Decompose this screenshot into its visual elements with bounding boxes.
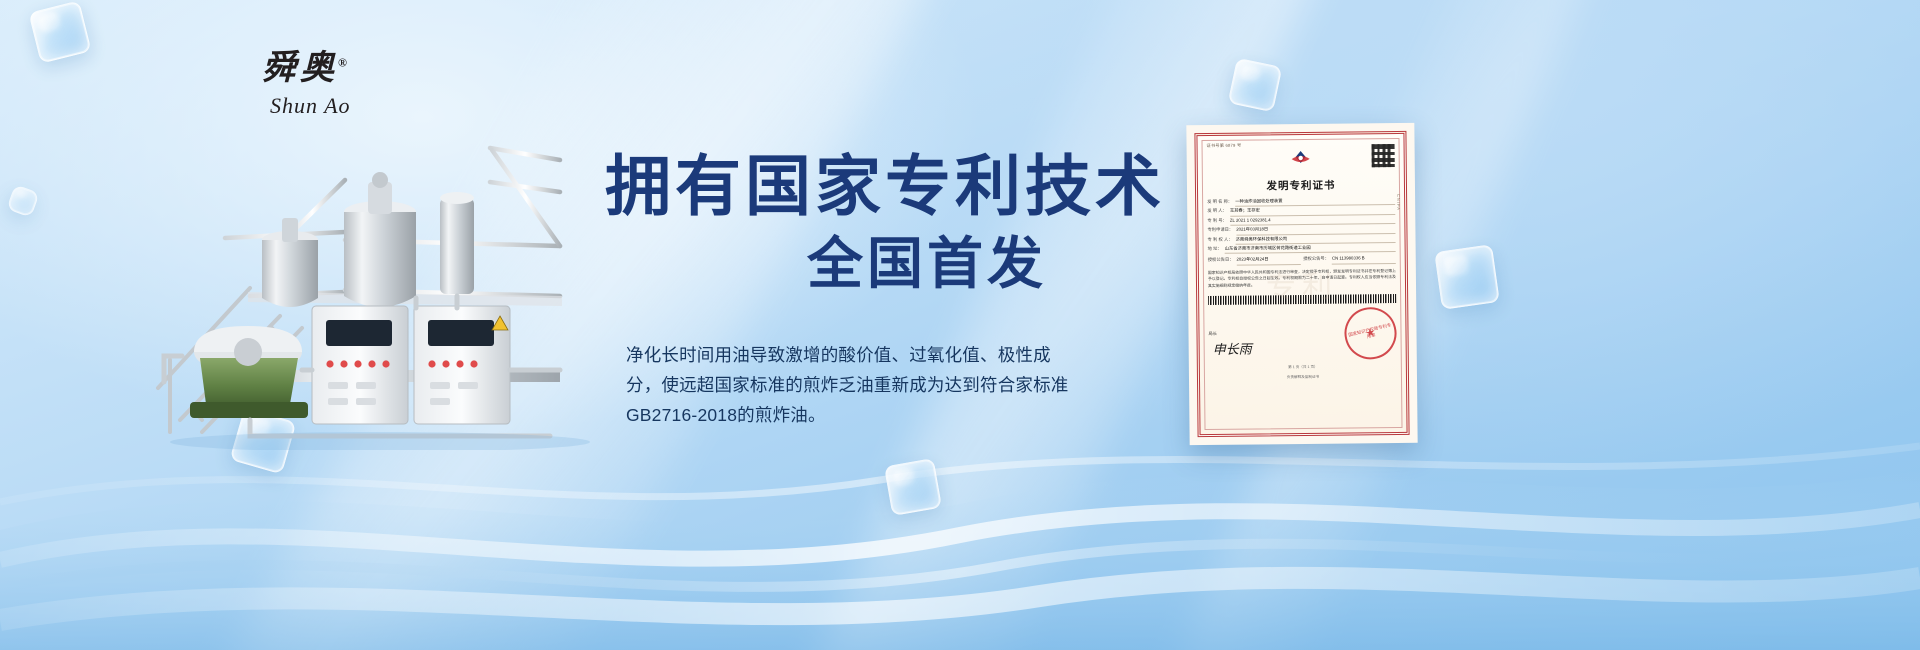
certificate-footer: 第 1 页（共 1 页）	[1209, 364, 1397, 371]
patent-certificate: 专利 CNIPA 证书号第 6879 号 发明专利证书 发 明 名 称：一种油炸…	[1186, 123, 1417, 445]
official-seal: ★ 国家知识产权局专利专用章	[1339, 302, 1402, 365]
machine-photo	[130, 120, 650, 450]
certificate-fields: 发 明 名 称：一种油炸油回收处理装置 发 明 人：王其春；王存宏 专 利 号：…	[1207, 196, 1396, 266]
promo-banner: 舜奥® Shun Ao 拥有国家专利技术 全国首发 净化长时间用油导致激增的酸价…	[0, 0, 1920, 650]
headline-line-2: 全国首发	[605, 230, 1165, 297]
emblem-icon	[1207, 149, 1395, 178]
table-row: 地 址：山东省济南市济南市历城区荷花路街道工业园	[1208, 243, 1396, 254]
certificate-footer-2: 负责解释及监制证书	[1209, 374, 1397, 381]
table-row: 授权公告日： 2023年02月24日 授权公告号： CN 113980336 B	[1208, 254, 1396, 265]
headline-line-1: 拥有国家专利技术	[605, 150, 1165, 224]
headline-block: 拥有国家专利技术 全国首发	[605, 150, 1165, 297]
ice-cube-small-left	[6, 184, 39, 217]
certificate-title: 发明专利证书	[1207, 177, 1395, 194]
ice-cube-bottom-mid	[884, 458, 942, 516]
certificate-body-text: 国家知识产权局依照中华人民共和国专利法进行审查，决定授予专利权，颁发发明专利证书…	[1208, 268, 1396, 290]
ice-cube-right	[1434, 244, 1500, 310]
certificate-number: 证书号第 6879 号	[1207, 141, 1395, 149]
registered-mark-icon: ®	[338, 56, 351, 70]
signature-text: 申长雨	[1213, 337, 1252, 361]
certificate-side-text: CNIPA	[1396, 194, 1401, 211]
barcode-icon	[1208, 294, 1396, 305]
ice-cube-upper-mid	[1228, 58, 1283, 113]
logo-chinese-text: 舜奥®	[262, 40, 382, 89]
logo-pinyin-text: Shun Ao	[262, 93, 382, 119]
certificate-signature-block: 局长 申长雨 ★ 国家知识产权局专利专用章	[1208, 307, 1397, 361]
qr-code-icon	[1372, 144, 1395, 167]
ice-cube-top-left	[28, 0, 91, 63]
brand-logo: 舜奥® Shun Ao	[262, 40, 382, 125]
description-paragraph: 净化长时间用油导致激增的酸价值、过氧化值、极性成分，使远超国家标准的煎炸乏油重新…	[626, 340, 1078, 430]
